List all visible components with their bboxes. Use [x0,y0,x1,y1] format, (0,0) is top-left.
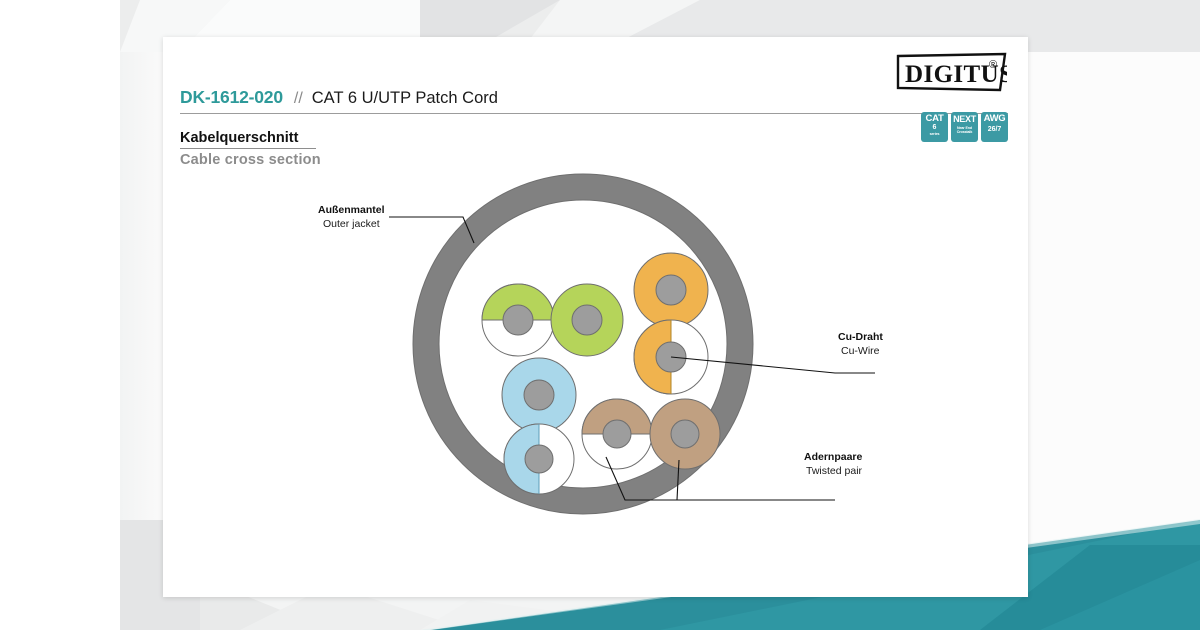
wire-brown-solid [650,399,720,469]
callout-cu-wire: Cu-Draht Cu-Wire [671,331,883,373]
badge-awg-line2: 26/7 [988,126,1002,134]
badge-cat6: CAT 6 series [921,112,948,142]
callout-cu-wire-de: Cu-Draht [838,331,883,343]
wire-brown-striped [582,399,652,469]
callout-outer-jacket-en: Outer jacket [323,218,380,230]
callout-outer-jacket: Außenmantel Outer jacket [318,204,474,243]
wire-green-striped [482,284,554,356]
badge-awg-line1: AWG [984,114,1006,124]
wire-blue-striped [504,424,574,494]
wire-green-solid [551,284,623,356]
callout-twisted-pair-en: Twisted pair [806,465,863,477]
wire-blue-solid [502,358,576,432]
wire-pair-orange [634,253,708,394]
spec-badges: CAT 6 series NEXT Near End Crosstalk AWG… [921,112,1008,142]
badge-next: NEXT Near End Crosstalk [951,112,978,142]
outer-jacket-ring [413,174,753,514]
section-title-en: Cable cross section [180,152,321,168]
badge-cat6-line2: 6 [933,124,937,132]
product-name: CAT 6 U/UTP Patch Cord [312,89,498,108]
registered-trademark-icon: ® [989,59,997,71]
wire-orange-striped [634,320,708,394]
badge-awg: AWG 26/7 [981,112,1008,142]
callout-cu-wire-en: Cu-Wire [841,345,880,357]
product-sku: DK-1612-020 [180,87,283,108]
section-title-de: Kabelquerschnitt [180,130,316,149]
wire-pair-brown [582,399,720,469]
wire-orange-solid [634,253,708,327]
callout-outer-jacket-de: Außenmantel [318,204,385,216]
content-panel: DIGITUS ® DK-1612-020 // CAT 6 U/UTP Pat… [163,37,1028,597]
badge-cat6-line1: CAT [926,114,944,124]
callout-twisted-pair: Adernpaare Twisted pair [606,451,863,500]
cable-cross-section-diagram: Außenmantel Outer jacket Cu-Draht Cu-Wir… [163,37,1028,597]
badge-next-line1: NEXT [953,114,976,124]
section-heading: Kabelquerschnitt Cable cross section [180,129,321,168]
badge-cat6-line3: series [930,132,940,136]
callout-twisted-pair-de: Adernpaare [804,451,863,463]
wire-pair-blue [502,358,576,494]
badge-next-line3: Near End Crosstalk [957,126,972,134]
wire-pair-green [482,284,623,356]
title-separator: // [294,90,303,108]
product-title-row: DK-1612-020 // CAT 6 U/UTP Patch Cord [180,87,1008,114]
